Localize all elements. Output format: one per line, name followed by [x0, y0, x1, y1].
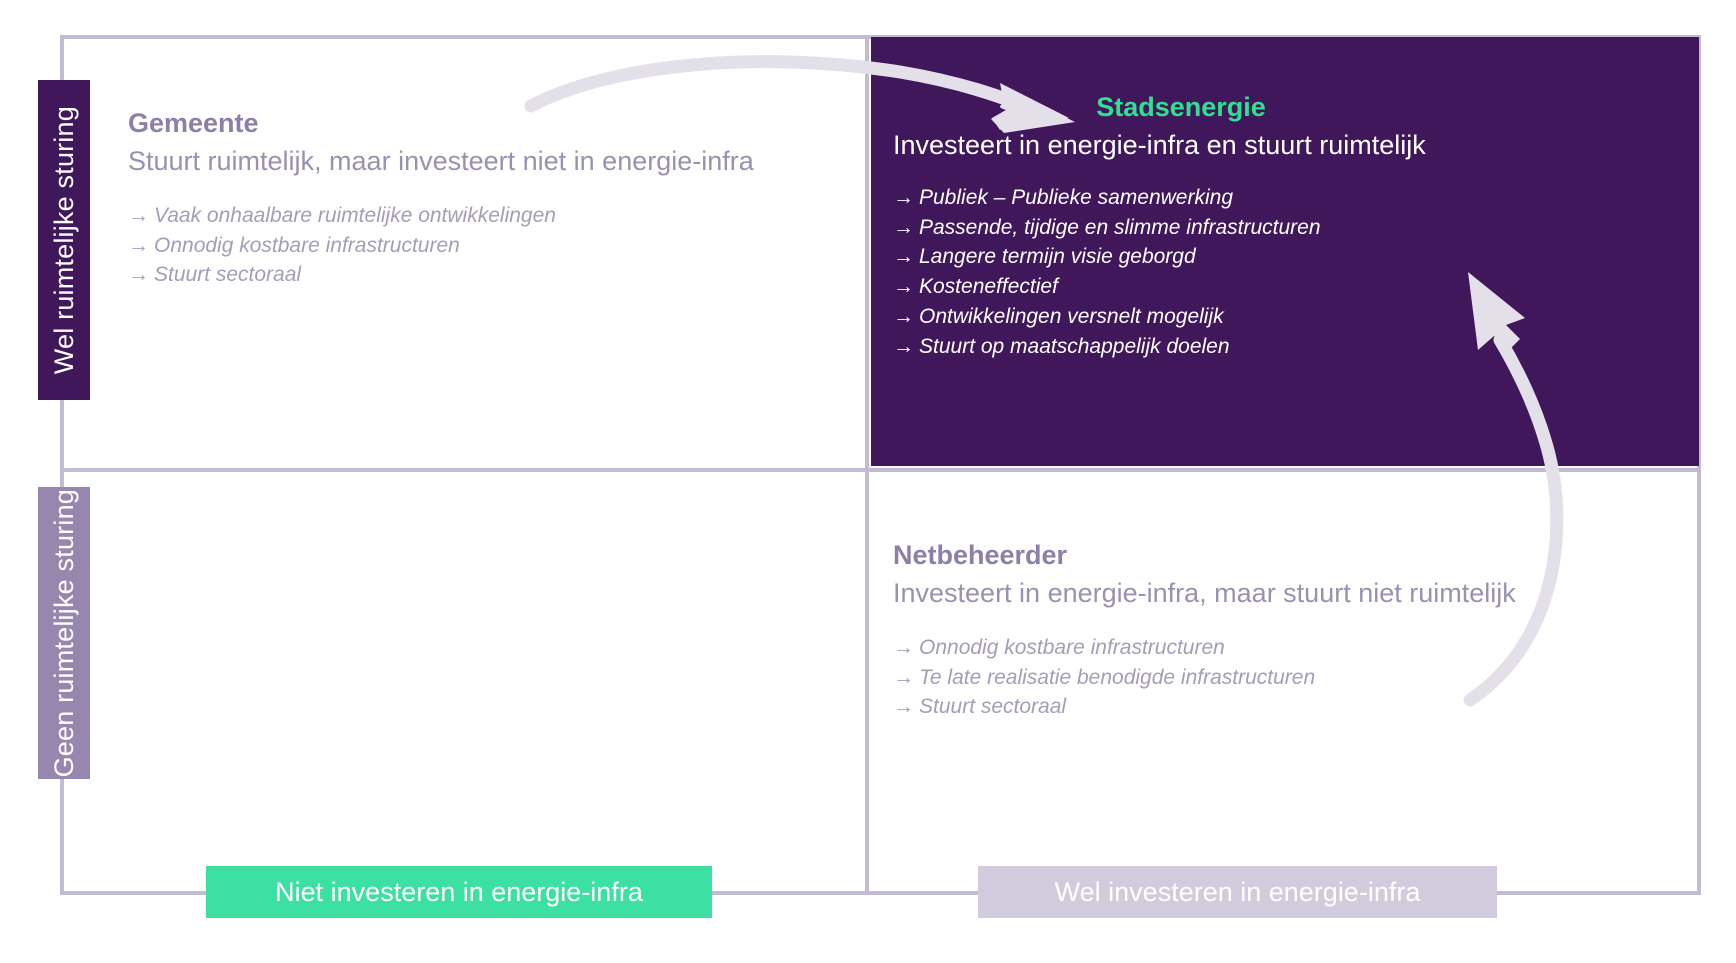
arrow-right-icon: →	[893, 633, 919, 663]
list-item: →Te late realisatie benodigde infrastruc…	[893, 663, 1683, 693]
axis-label-wel-ruimtelijke-sturing: Wel ruimtelijke sturing	[38, 80, 90, 400]
list-item: →Langere termijn visie geborgd	[893, 242, 1693, 272]
list-item-label: Onnodig kostbare infrastructuren	[154, 234, 460, 257]
list-item-label: Onnodig kostbare infrastructuren	[919, 636, 1225, 659]
list-item-label: Te late realisatie benodigde infrastruct…	[919, 666, 1315, 689]
spacer	[893, 611, 1683, 633]
cell-bullets-gemeente: →Vaak onhaalbare ruimtelijke ontwikkelin…	[128, 201, 868, 290]
cell-content-stadsenergie: Stadsenergie Investeert in energie-infra…	[893, 90, 1693, 362]
cell-subtitle-stadsenergie: Investeert in energie-infra en stuurt ru…	[893, 128, 1693, 163]
arrow-right-icon: →	[128, 231, 154, 261]
list-item-label: Stuurt op maatschappelijk doelen	[919, 335, 1230, 358]
spacer	[128, 179, 868, 201]
axis-label-wel-investeren: Wel investeren in energie-infra	[978, 866, 1497, 918]
cell-bullets-stadsenergie: →Publiek – Publieke samenwerking →Passen…	[893, 183, 1693, 362]
axis-label-bottom-text: Geen ruimtelijke sturing	[49, 489, 80, 777]
cell-title-netbeheerder: Netbeheerder	[893, 538, 1683, 574]
arrow-right-icon: →	[893, 663, 919, 693]
list-item-label: Passende, tijdige en slimme infrastructu…	[919, 216, 1321, 239]
arrow-right-icon: →	[893, 213, 919, 243]
cell-title-gemeente: Gemeente	[128, 106, 868, 142]
list-item: →Onnodig kostbare infrastructuren	[128, 231, 868, 261]
list-item: →Publiek – Publieke samenwerking	[893, 183, 1693, 213]
list-item: →Vaak onhaalbare ruimtelijke ontwikkelin…	[128, 201, 868, 231]
list-item-label: Publiek – Publieke samenwerking	[919, 186, 1233, 209]
axis-label-geen-ruimtelijke-sturing: Geen ruimtelijke sturing	[38, 487, 90, 779]
cell-subtitle-netbeheerder: Investeert in energie-infra, maar stuurt…	[893, 576, 1683, 611]
list-item-label: Stuurt sectoraal	[154, 263, 301, 286]
list-item: →Kosteneffectief	[893, 272, 1693, 302]
cell-subtitle-gemeente: Stuurt ruimtelijk, maar investeert niet …	[128, 144, 868, 179]
arrow-right-icon: →	[893, 332, 919, 362]
arrow-right-icon: →	[893, 242, 919, 272]
cell-title-stadsenergie: Stadsenergie	[971, 90, 1391, 126]
list-item: →Onnodig kostbare infrastructuren	[893, 633, 1683, 663]
axis-label-right-text: Wel investeren in energie-infra	[1055, 877, 1421, 908]
arrow-right-icon: →	[893, 302, 919, 332]
list-item: →Passende, tijdige en slimme infrastruct…	[893, 213, 1693, 243]
arrow-right-icon: →	[893, 183, 919, 213]
list-item-label: Kosteneffectief	[919, 275, 1058, 298]
axis-label-left-text: Niet investeren in energie-infra	[275, 877, 643, 908]
list-item: →Ontwikkelingen versnelt mogelijk	[893, 302, 1693, 332]
cell-content-netbeheerder: Netbeheerder Investeert in energie-infra…	[893, 538, 1683, 722]
list-item: →Stuurt sectoraal	[893, 692, 1683, 722]
axis-label-niet-investeren: Niet investeren in energie-infra	[206, 866, 712, 918]
list-item: →Stuurt op maatschappelijk doelen	[893, 332, 1693, 362]
arrow-right-icon: →	[128, 260, 154, 290]
list-item-label: Stuurt sectoraal	[919, 695, 1066, 718]
arrow-right-icon: →	[893, 272, 919, 302]
list-item-label: Vaak onhaalbare ruimtelijke ontwikkeling…	[154, 204, 556, 227]
list-item-label: Ontwikkelingen versnelt mogelijk	[919, 305, 1224, 328]
axis-label-top-text: Wel ruimtelijke sturing	[49, 106, 80, 374]
spacer	[893, 163, 1693, 183]
list-item-label: Langere termijn visie geborgd	[919, 245, 1196, 268]
list-item: →Stuurt sectoraal	[128, 260, 868, 290]
matrix-diagram: Wel ruimtelijke sturing Geen ruimtelijke…	[0, 0, 1736, 963]
cell-bullets-netbeheerder: →Onnodig kostbare infrastructuren →Te la…	[893, 633, 1683, 722]
quadrant-bottom-left-empty	[64, 472, 865, 891]
cell-content-gemeente: Gemeente Stuurt ruimtelijk, maar investe…	[128, 106, 868, 290]
arrow-right-icon: →	[128, 201, 154, 231]
arrow-right-icon: →	[893, 692, 919, 722]
